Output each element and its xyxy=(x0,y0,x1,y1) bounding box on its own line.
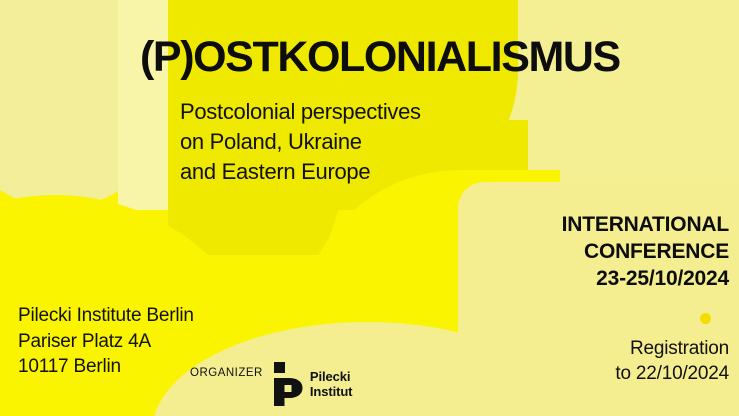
organizer-label: ORGANIZER xyxy=(190,362,263,379)
registration-details: Registration to 22/10/2024 xyxy=(615,336,729,386)
decorative-dot-icon xyxy=(700,313,711,324)
organizer-logo: Pilecki Institut xyxy=(273,362,353,406)
conference-details: INTERNATIONAL CONFERENCE 23-25/10/2024 xyxy=(562,212,729,293)
conference-line-2: CONFERENCE xyxy=(562,239,729,266)
conference-dates: 23-25/10/2024 xyxy=(562,266,729,293)
logo-word-2: Institut xyxy=(310,384,353,399)
organizer-section: ORGANIZER Pilecki Institut xyxy=(190,362,352,406)
conference-poster: (P)OSTKOLONIALISMUS Postcolonial perspec… xyxy=(0,0,739,416)
page-title: (P)OSTKOLONIALISMUS xyxy=(140,36,620,79)
pilecki-institut-logo-icon xyxy=(273,362,303,406)
registration-label: Registration xyxy=(615,336,729,361)
venue-address: Pilecki Institute Berlin Pariser Platz 4… xyxy=(18,303,194,380)
venue-line-3: 10117 Berlin xyxy=(18,354,194,380)
subtitle-line-1: Postcolonial perspectives xyxy=(180,97,421,127)
subtitle-line-3: and Eastern Europe xyxy=(180,157,421,187)
organizer-logo-wordmark: Pilecki Institut xyxy=(310,369,353,400)
logo-word-1: Pilecki xyxy=(310,369,353,384)
venue-line-2: Pariser Platz 4A xyxy=(18,329,194,355)
registration-deadline: to 22/10/2024 xyxy=(615,361,729,386)
subtitle-line-2: on Poland, Ukraine xyxy=(180,127,421,157)
conference-line-1: INTERNATIONAL xyxy=(562,212,729,239)
venue-line-1: Pilecki Institute Berlin xyxy=(18,303,194,329)
page-subtitle: Postcolonial perspectives on Poland, Ukr… xyxy=(180,97,421,187)
